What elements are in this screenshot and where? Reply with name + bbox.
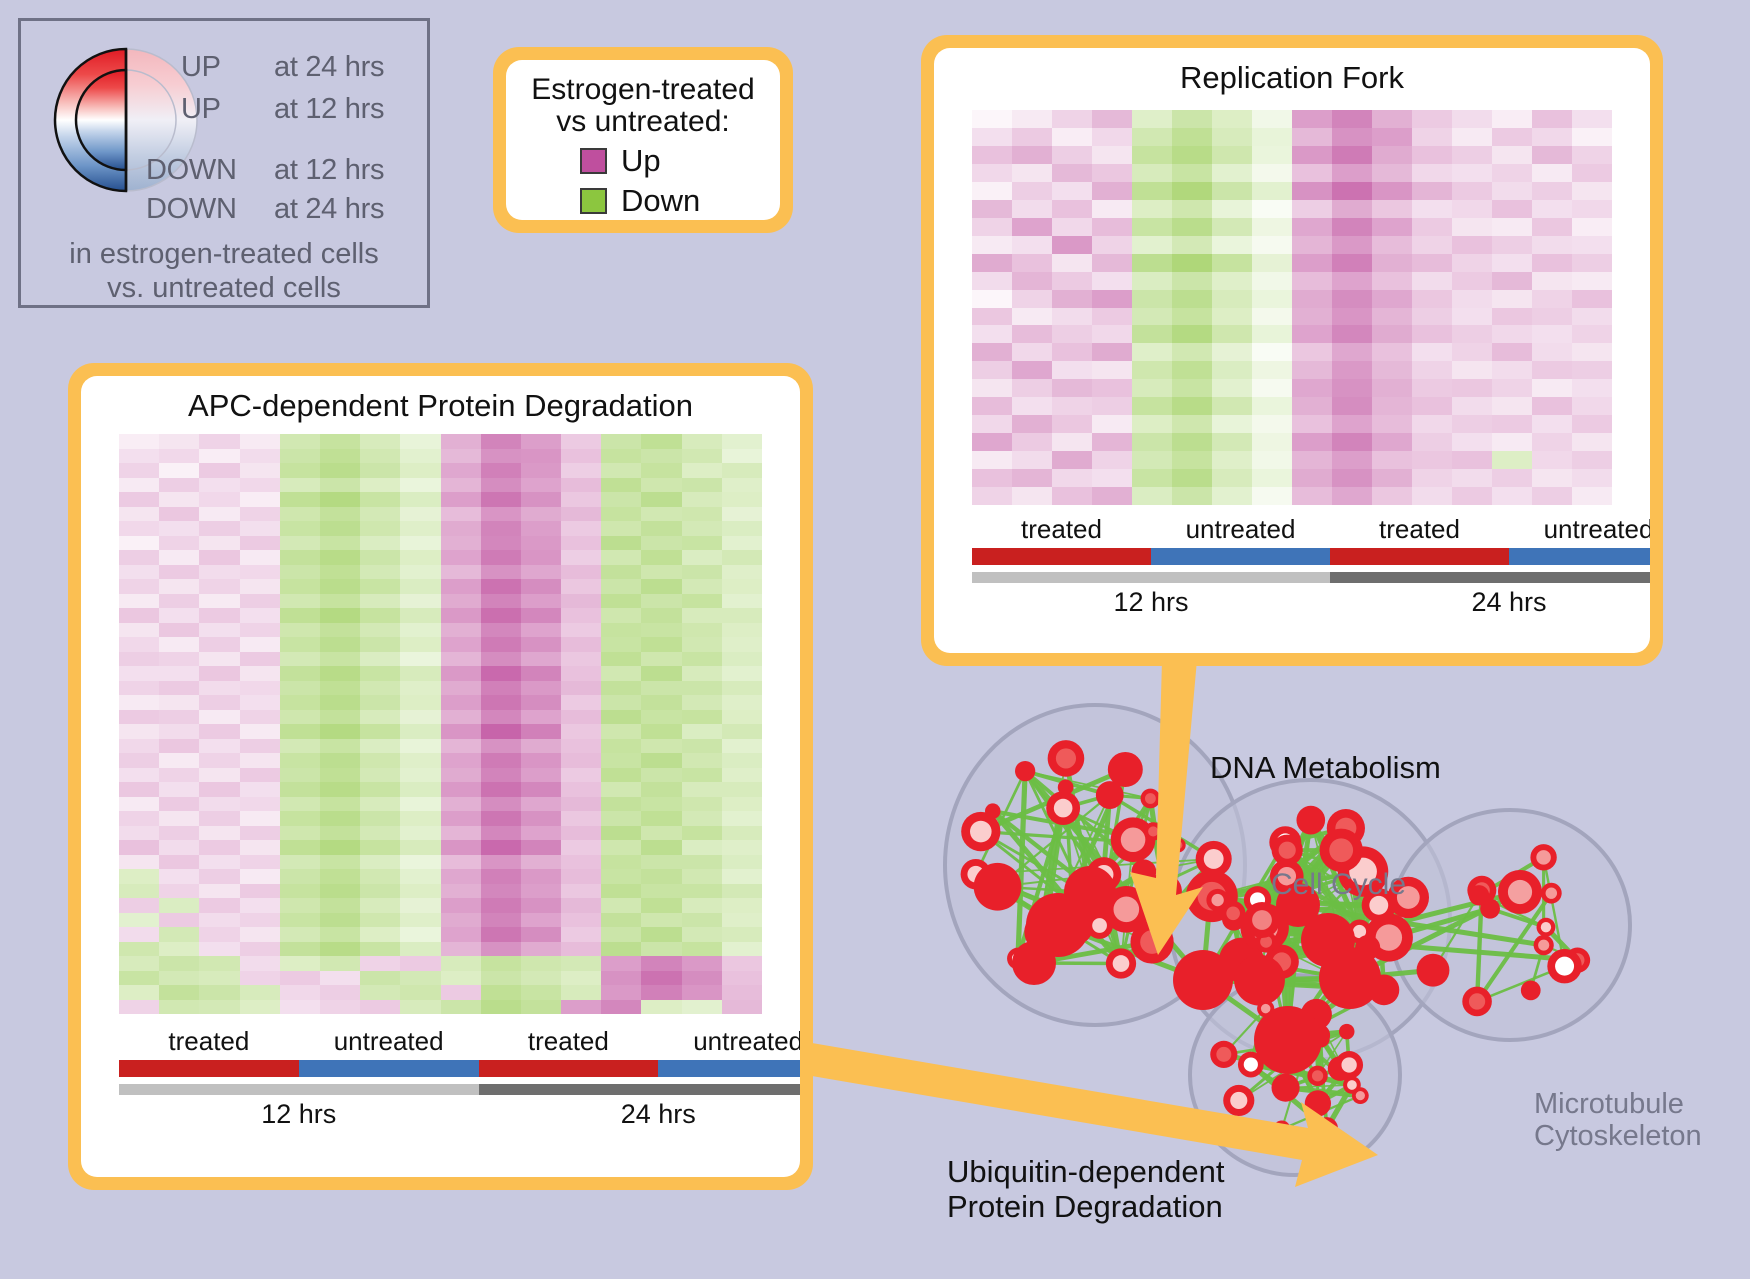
heatmap-cell xyxy=(1532,182,1572,200)
heatmap-cell xyxy=(400,608,440,623)
network-node[interactable] xyxy=(1234,955,1285,1006)
heatmap-cell xyxy=(441,739,481,754)
heatmap-cell xyxy=(1492,146,1532,164)
heatmap-cell xyxy=(240,826,280,841)
heatmap-cell xyxy=(682,913,722,928)
heatmap-cell xyxy=(722,884,762,899)
heatmap-cell xyxy=(1092,272,1132,290)
heatmap-cell xyxy=(1092,433,1132,451)
heatmap-cell xyxy=(400,492,440,507)
heatmap-cell xyxy=(360,869,400,884)
heatmap-cell xyxy=(199,521,239,536)
heatmap-cell xyxy=(1172,397,1212,415)
heatmap-cell xyxy=(1172,110,1212,128)
heatmap-cell xyxy=(1532,272,1572,290)
heatmap-cell xyxy=(1292,254,1332,272)
network-node[interactable] xyxy=(1319,947,1381,1009)
heatmap-cell xyxy=(601,768,641,783)
heatmap-cell xyxy=(481,811,521,826)
apc-panel: APC-dependent Protein Degradation treate… xyxy=(68,363,813,1190)
heatmap-cell xyxy=(119,710,159,725)
heatmap-cell xyxy=(1492,272,1532,290)
heatmap-cell xyxy=(1332,146,1372,164)
heatmap-cell xyxy=(1052,272,1092,290)
time-bar-segment xyxy=(972,572,1330,583)
heatmap-cell xyxy=(199,536,239,551)
network-node-core xyxy=(1312,1070,1323,1081)
heatmap-cell xyxy=(481,695,521,710)
heatmap-cell xyxy=(119,985,159,1000)
heatmap-cell xyxy=(199,782,239,797)
heatmap-cell xyxy=(972,164,1012,182)
network-node[interactable] xyxy=(1417,954,1450,987)
heatmap-cell xyxy=(1172,433,1212,451)
heatmap-cell xyxy=(521,840,561,855)
heatmap-cell xyxy=(320,956,360,971)
heatmap-cell xyxy=(1292,343,1332,361)
heatmap-cell xyxy=(159,768,199,783)
heatmap-cell xyxy=(561,884,601,899)
heatmap-cell xyxy=(400,1000,440,1015)
cluster-label-ubiquitin: Ubiquitin-dependent Protein Degradation xyxy=(947,1155,1225,1224)
heatmap-cell xyxy=(320,739,360,754)
heatmap-cell xyxy=(1332,361,1372,379)
heatmap-cell xyxy=(1372,182,1412,200)
heatmap-cell xyxy=(561,971,601,986)
heatmap-cell xyxy=(320,579,360,594)
heatmap-cell xyxy=(400,536,440,551)
heatmap-cell xyxy=(441,434,481,449)
heatmap-cell xyxy=(199,608,239,623)
heatmap-cell xyxy=(521,478,561,493)
network-node[interactable] xyxy=(1173,950,1233,1010)
heatmap-cell xyxy=(320,710,360,725)
heatmap-cell xyxy=(641,637,681,652)
heatmap-cell xyxy=(1172,379,1212,397)
heatmap-cell xyxy=(1052,308,1092,326)
heatmap-cell xyxy=(400,884,440,899)
heatmap-cell xyxy=(320,681,360,696)
heatmap-cell xyxy=(159,811,199,826)
network-node[interactable] xyxy=(1064,866,1116,918)
heatmap-cell xyxy=(601,739,641,754)
heatmap-cell xyxy=(199,463,239,478)
network-node[interactable] xyxy=(1339,1024,1355,1040)
network-node[interactable] xyxy=(1131,859,1156,884)
heatmap-cell xyxy=(441,753,481,768)
heatmap-cell xyxy=(320,811,360,826)
network-node-core xyxy=(1508,880,1532,904)
heatmap-cell xyxy=(1532,415,1572,433)
heatmap-cell xyxy=(441,608,481,623)
heatmap-cell xyxy=(722,739,762,754)
network-node[interactable] xyxy=(1254,1006,1322,1074)
heatmap-cell xyxy=(682,710,722,725)
heatmap-cell xyxy=(641,884,681,899)
heatmap-cell xyxy=(1172,218,1212,236)
heatmap-cell xyxy=(360,666,400,681)
heatmap-cell xyxy=(1452,451,1492,469)
heatmap-cell xyxy=(1292,200,1332,218)
heatmap-cell xyxy=(1492,487,1532,505)
heatmap-cell xyxy=(1172,487,1212,505)
heatmap-cell xyxy=(199,434,239,449)
heatmap-cell xyxy=(400,768,440,783)
heatmap-cell xyxy=(400,666,440,681)
network-node[interactable] xyxy=(1521,980,1541,1000)
heatmap-cell xyxy=(360,840,400,855)
heatmap-cell xyxy=(1292,361,1332,379)
heatmap-cell xyxy=(521,942,561,957)
heatmap-cell xyxy=(1452,128,1492,146)
heatmap-cell xyxy=(1212,308,1252,326)
heatmap-cell xyxy=(400,826,440,841)
heatmap-cell xyxy=(320,594,360,609)
network-node-core xyxy=(1216,1047,1231,1062)
heatmap-cell xyxy=(280,492,320,507)
heatmap-cell xyxy=(1532,236,1572,254)
heatmap-cell xyxy=(1412,200,1452,218)
heatmap-cell xyxy=(601,492,641,507)
heatmap-cell xyxy=(199,739,239,754)
replication-fork-panel: Replication Fork treateduntreatedtreated… xyxy=(921,35,1663,666)
heatmap-cell xyxy=(280,739,320,754)
heatmap-cell xyxy=(240,884,280,899)
heatmap-cell xyxy=(1372,290,1412,308)
network-node[interactable] xyxy=(1272,1074,1300,1102)
heatmap-cell xyxy=(641,985,681,1000)
heatmap-cell xyxy=(1252,379,1292,397)
heatmap-cell xyxy=(400,463,440,478)
heatmap-cell xyxy=(682,608,722,623)
network-node[interactable] xyxy=(1305,1090,1331,1116)
heatmap-cell xyxy=(1252,451,1292,469)
heatmap-cell xyxy=(1532,379,1572,397)
time-bar-segment xyxy=(1330,572,1650,583)
heatmap-cell xyxy=(199,971,239,986)
heatmap-cell xyxy=(1452,236,1492,254)
heatmap-cell xyxy=(561,507,601,522)
heatmap-cell xyxy=(1532,487,1572,505)
heatmap-cell xyxy=(441,463,481,478)
heatmap-cell xyxy=(360,652,400,667)
heatmap-cell xyxy=(240,550,280,565)
heatmap-cell xyxy=(722,507,762,522)
heatmap-cell xyxy=(1212,343,1252,361)
heatmap-cell xyxy=(159,652,199,667)
heatmap-cell xyxy=(641,536,681,551)
heatmap-cell xyxy=(481,797,521,812)
network-node[interactable] xyxy=(1108,752,1143,787)
network-node-core xyxy=(970,821,992,843)
heatmap-cell xyxy=(1412,254,1452,272)
heatmap-cell xyxy=(561,463,601,478)
heatmap-cell xyxy=(641,826,681,841)
heatmap-cell xyxy=(722,753,762,768)
time-label: 24 hrs xyxy=(479,1099,801,1130)
heatmap-cell xyxy=(1172,451,1212,469)
heatmap-cell xyxy=(1412,361,1452,379)
network-node[interactable] xyxy=(1058,779,1074,795)
group-label: treated xyxy=(972,514,1151,545)
heatmap-cell xyxy=(320,985,360,1000)
heatmap-cell xyxy=(521,797,561,812)
heatmap-cell xyxy=(1332,433,1372,451)
heatmap-cell xyxy=(119,492,159,507)
heatmap-cell xyxy=(1332,110,1372,128)
heatmap-cell xyxy=(360,782,400,797)
heatmap-cell xyxy=(119,753,159,768)
heatmap-cell xyxy=(280,550,320,565)
estrogen-title-line2: vs untreated: xyxy=(506,106,780,138)
heatmap-cell xyxy=(400,710,440,725)
heatmap-cell xyxy=(441,652,481,667)
legend-time-3: at 24 hrs xyxy=(274,193,384,226)
heatmap-cell xyxy=(1052,236,1092,254)
heatmap-cell xyxy=(1012,308,1052,326)
heatmap-cell xyxy=(400,739,440,754)
heatmap-cell xyxy=(119,695,159,710)
heatmap-cell xyxy=(1412,379,1452,397)
heatmap-cell xyxy=(441,623,481,638)
heatmap-cell xyxy=(641,913,681,928)
apc-title: APC-dependent Protein Degradation xyxy=(81,376,800,424)
heatmap-cell xyxy=(280,811,320,826)
heatmap-cell xyxy=(972,182,1012,200)
heatmap-cell xyxy=(1492,343,1532,361)
cluster-label-microtubule: Microtubule Cytoskeleton xyxy=(1534,1088,1702,1153)
heatmap-cell xyxy=(1292,218,1332,236)
heatmap-cell xyxy=(159,434,199,449)
heatmap-cell xyxy=(280,768,320,783)
apc-annotations: treateduntreatedtreateduntreated 12 hrs2… xyxy=(119,1026,800,1130)
heatmap-cell xyxy=(199,681,239,696)
heatmap-cell xyxy=(1372,218,1412,236)
heatmap-cell xyxy=(1052,361,1092,379)
heatmap-cell xyxy=(1012,433,1052,451)
heatmap-cell xyxy=(972,110,1012,128)
heatmap-cell xyxy=(360,594,400,609)
heatmap-cell xyxy=(159,637,199,652)
group-color-bar xyxy=(972,548,1650,565)
heatmap-cell xyxy=(1012,361,1052,379)
heatmap-cell xyxy=(561,739,601,754)
heatmap-cell xyxy=(1452,487,1492,505)
heatmap-cell xyxy=(481,492,521,507)
heatmap-cell xyxy=(320,724,360,739)
heatmap-cell xyxy=(722,985,762,1000)
heatmap-cell xyxy=(521,536,561,551)
heatmap-cell xyxy=(1012,254,1052,272)
heatmap-cell xyxy=(1372,200,1412,218)
heatmap-cell xyxy=(1492,308,1532,326)
heatmap-cell xyxy=(119,768,159,783)
heatmap-cell xyxy=(360,1000,400,1015)
heatmap-cell xyxy=(1052,146,1092,164)
heatmap-cell xyxy=(601,797,641,812)
heatmap-cell xyxy=(360,478,400,493)
heatmap-cell xyxy=(1332,200,1372,218)
heatmap-cell xyxy=(481,913,521,928)
heatmap-cell xyxy=(199,768,239,783)
heatmap-cell xyxy=(441,710,481,725)
heatmap-cell xyxy=(561,449,601,464)
heatmap-cell xyxy=(561,681,601,696)
heatmap-cell xyxy=(1452,290,1492,308)
heatmap-cell xyxy=(240,565,280,580)
heatmap-cell xyxy=(1292,182,1332,200)
heatmap-cell xyxy=(722,855,762,870)
heatmap-cell xyxy=(441,884,481,899)
heatmap-cell xyxy=(722,898,762,913)
network-node[interactable] xyxy=(1012,941,1056,985)
heatmap-cell xyxy=(1172,343,1212,361)
heatmap-cell xyxy=(159,753,199,768)
heatmap-cell xyxy=(1532,325,1572,343)
heatmap-cell xyxy=(1252,361,1292,379)
heatmap-cell xyxy=(601,753,641,768)
heatmap-cell xyxy=(521,768,561,783)
heatmap-cell xyxy=(1372,146,1412,164)
heatmap-cell xyxy=(199,666,239,681)
heatmap-cell xyxy=(1092,415,1132,433)
heatmap-cell xyxy=(1452,200,1492,218)
heatmap-cell xyxy=(199,623,239,638)
heatmap-cell xyxy=(1212,200,1252,218)
heatmap-cell xyxy=(1212,272,1252,290)
direction-legend-box: UP at 24 hrs UP at 12 hrs DOWN at 12 hrs… xyxy=(18,18,430,308)
heatmap-cell xyxy=(1132,308,1172,326)
heatmap-cell xyxy=(441,1000,481,1015)
heatmap-cell xyxy=(320,797,360,812)
heatmap-cell xyxy=(722,623,762,638)
heatmap-cell xyxy=(441,478,481,493)
heatmap-cell xyxy=(1172,415,1212,433)
heatmap-cell xyxy=(641,623,681,638)
heatmap-cell xyxy=(682,927,722,942)
heatmap-cell xyxy=(1092,487,1132,505)
heatmap-cell xyxy=(601,971,641,986)
estrogen-legend-panel: Estrogen-treated vs untreated: Up Down xyxy=(493,47,793,233)
network-node[interactable] xyxy=(974,863,1022,911)
network-node[interactable] xyxy=(1296,806,1325,835)
heatmap-cell xyxy=(119,913,159,928)
heatmap-cell xyxy=(641,579,681,594)
heatmap-cell xyxy=(561,623,601,638)
microtubule-line2: Cytoskeleton xyxy=(1534,1120,1702,1152)
heatmap-cell xyxy=(641,811,681,826)
heatmap-cell xyxy=(601,898,641,913)
heatmap-cell xyxy=(441,971,481,986)
heatmap-cell xyxy=(972,290,1012,308)
heatmap-cell xyxy=(521,753,561,768)
heatmap-cell xyxy=(280,695,320,710)
heatmap-cell xyxy=(400,724,440,739)
heatmap-cell xyxy=(1492,110,1532,128)
network-node-core xyxy=(1329,838,1353,862)
heatmap-cell xyxy=(481,942,521,957)
heatmap-cell xyxy=(400,637,440,652)
heatmap-cell xyxy=(682,565,722,580)
heatmap-cell xyxy=(601,840,641,855)
heatmap-cell xyxy=(159,1000,199,1015)
heatmap-cell xyxy=(119,434,159,449)
heatmap-cell xyxy=(280,753,320,768)
network-node-core xyxy=(1204,849,1224,869)
heatmap-cell xyxy=(972,325,1012,343)
heatmap-cell xyxy=(601,565,641,580)
heatmap-cell xyxy=(521,869,561,884)
heatmap-cell xyxy=(280,434,320,449)
group-bar-segment xyxy=(972,548,1151,565)
network-node[interactable] xyxy=(1469,885,1489,905)
heatmap-cell xyxy=(561,594,601,609)
heatmap-cell xyxy=(240,942,280,957)
heatmap-cell xyxy=(441,855,481,870)
heatmap-cell xyxy=(1292,415,1332,433)
heatmap-cell xyxy=(641,550,681,565)
heatmap-cell xyxy=(1012,182,1052,200)
heatmap-cell xyxy=(280,985,320,1000)
heatmap-cell xyxy=(1572,397,1612,415)
estrogen-title-line1: Estrogen-treated xyxy=(506,74,780,106)
heatmap-cell xyxy=(1212,236,1252,254)
heatmap-cell xyxy=(1532,254,1572,272)
time-labels: 12 hrs24 hrs xyxy=(972,587,1650,618)
heatmap-cell xyxy=(1452,164,1492,182)
heatmap-cell xyxy=(240,681,280,696)
heatmap-cell xyxy=(199,565,239,580)
network-node[interactable] xyxy=(1015,761,1035,781)
replication-fork-title: Replication Fork xyxy=(934,48,1650,96)
heatmap-cell xyxy=(159,608,199,623)
heatmap-cell xyxy=(1052,200,1092,218)
heatmap-cell xyxy=(1252,128,1292,146)
heatmap-cell xyxy=(441,666,481,681)
heatmap-cell xyxy=(722,521,762,536)
heatmap-cell xyxy=(280,884,320,899)
heatmap-cell xyxy=(641,695,681,710)
heatmap-cell xyxy=(1412,343,1452,361)
heatmap-cell xyxy=(1092,451,1132,469)
heatmap-cell xyxy=(1572,164,1612,182)
heatmap-cell xyxy=(561,913,601,928)
heatmap-cell xyxy=(722,652,762,667)
heatmap-cell xyxy=(1252,200,1292,218)
heatmap-cell xyxy=(240,869,280,884)
heatmap-cell xyxy=(159,884,199,899)
heatmap-cell xyxy=(972,218,1012,236)
heatmap-cell xyxy=(119,782,159,797)
heatmap-cell xyxy=(1212,218,1252,236)
heatmap-cell xyxy=(601,579,641,594)
heatmap-cell xyxy=(320,507,360,522)
heatmap-cell xyxy=(641,956,681,971)
network-node[interactable] xyxy=(985,803,1001,819)
heatmap-cell xyxy=(521,463,561,478)
heatmap-cell xyxy=(521,971,561,986)
heatmap-cell xyxy=(682,985,722,1000)
heatmap-cell xyxy=(400,681,440,696)
heatmap-cell xyxy=(1372,433,1412,451)
heatmap-cell xyxy=(320,840,360,855)
heatmap-cell xyxy=(199,724,239,739)
heatmap-cell xyxy=(1532,110,1572,128)
heatmap-cell xyxy=(722,492,762,507)
heatmap-cell xyxy=(641,898,681,913)
heatmap-cell xyxy=(199,449,239,464)
network-node[interactable] xyxy=(1273,1121,1290,1138)
